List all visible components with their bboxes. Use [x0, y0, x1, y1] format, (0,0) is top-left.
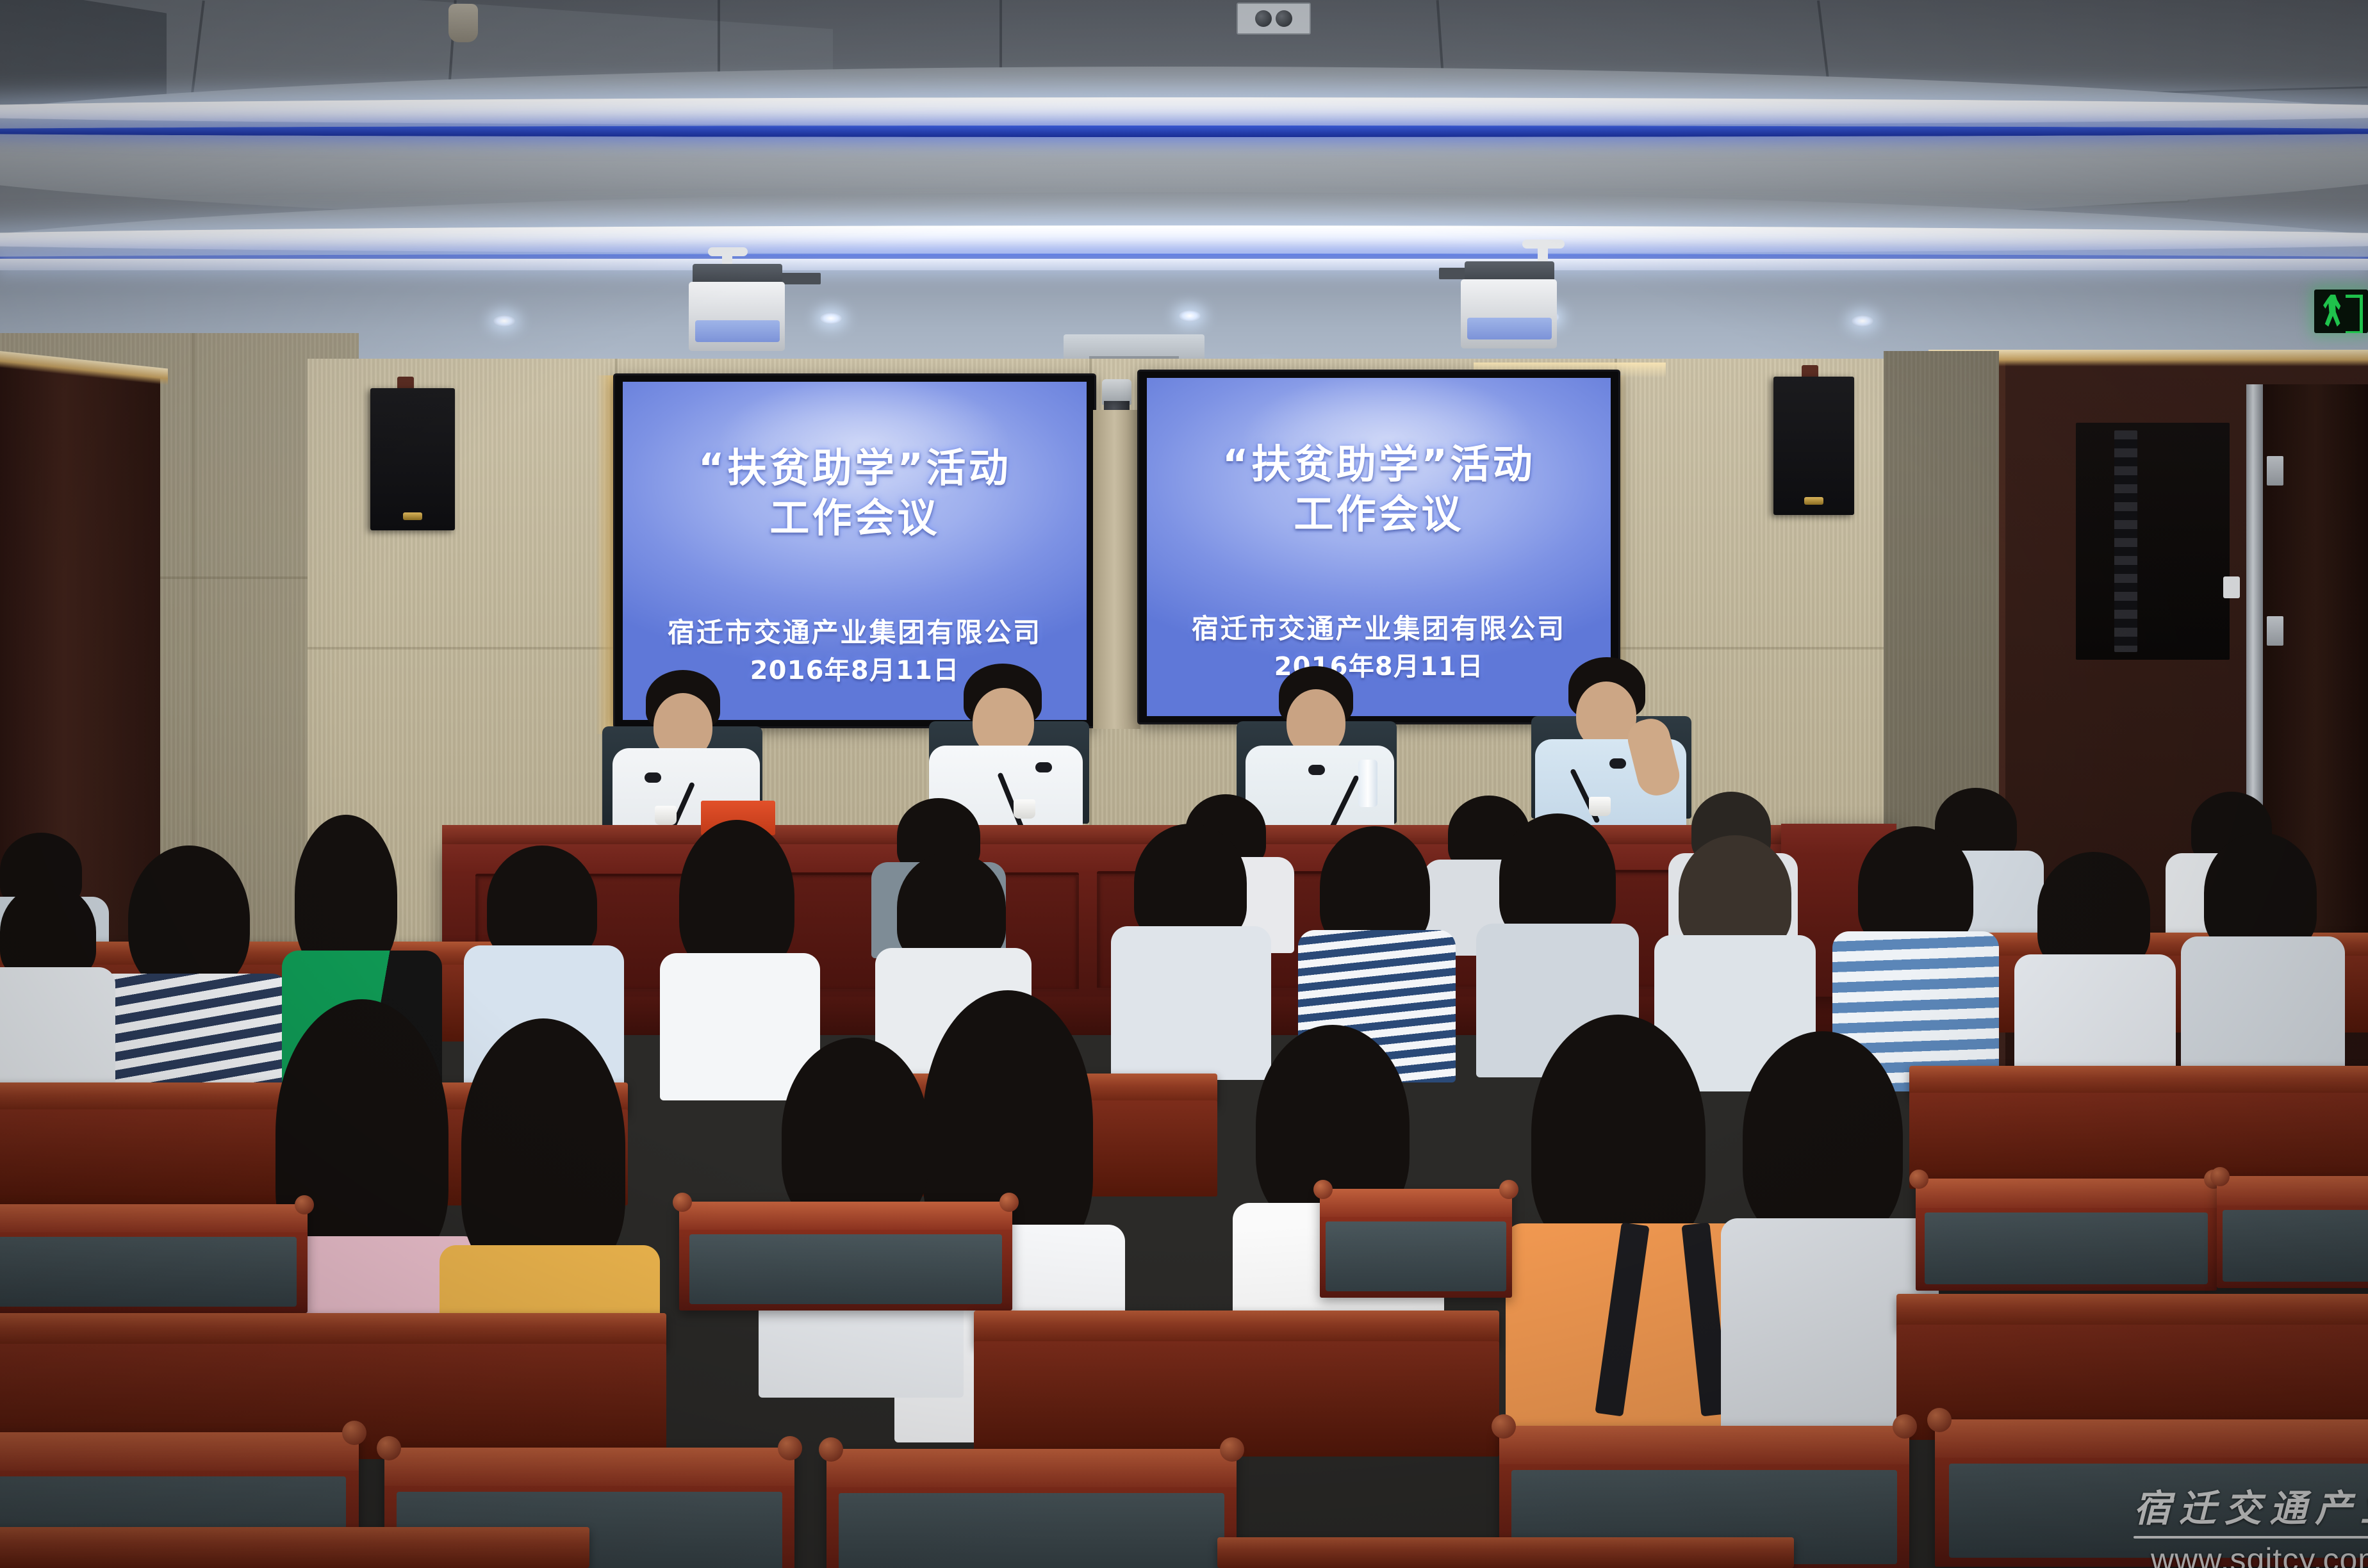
audience-desk	[0, 1527, 589, 1568]
watermark: 宿迁交通产业 www.sqjtcy.com	[2134, 1478, 2368, 1568]
downlight-icon	[820, 313, 842, 324]
ceiling-cove-blue-1	[0, 126, 2368, 137]
exit-door-icon	[2346, 295, 2363, 333]
light-switch-icon[interactable]	[2223, 576, 2240, 598]
slide-title-line2: 工作会议	[623, 486, 1087, 543]
downlight-icon	[493, 315, 515, 327]
tea-cup	[655, 806, 677, 825]
ceiling-light-strip-1	[0, 97, 2368, 126]
screen-backlight-left	[596, 375, 618, 734]
projection-screen-right: “扶贫助学”活动 工作会议 宿迁市交通产业集团有限公司 2016年8月11日	[1147, 378, 1611, 716]
speaker-badge-icon	[1804, 497, 1823, 505]
downlight-icon	[1179, 310, 1201, 322]
wall-speaker-left	[370, 388, 455, 530]
tea-cup	[1589, 797, 1611, 816]
slide-org-line: 宿迁市交通产业集团有限公司	[1147, 607, 1611, 646]
security-camera-icon	[1102, 379, 1131, 405]
watermark-url: www.sqjtcy.com	[2134, 1541, 2368, 1568]
wall-control-panel[interactable]	[2076, 423, 2230, 660]
slide-title-line1: “扶贫助学”活动	[623, 436, 1087, 493]
water-bottle	[1358, 760, 1377, 807]
panel-vent-icon	[2114, 430, 2137, 652]
bench-seat	[2217, 1176, 2368, 1288]
slide-title-line1: “扶贫助学”活动	[1147, 432, 1611, 489]
ceiling-light-strip-2	[0, 225, 2368, 254]
watermark-rule	[2134, 1536, 2368, 1539]
wall-speaker-right	[1773, 377, 1854, 515]
running-person-icon	[2322, 295, 2344, 328]
meeting-room-photo: “扶贫助学”活动 工作会议 宿迁市交通产业集团有限公司 2016年8月11日 “…	[0, 0, 2368, 1568]
bench-seat	[0, 1204, 308, 1313]
audience-desk	[1217, 1537, 1794, 1568]
wall-pillar-between-screens	[1093, 410, 1140, 729]
emergency-exit-sign	[2314, 290, 2368, 333]
door-hinge-icon	[2267, 616, 2283, 646]
downlight-icon	[1852, 315, 1873, 327]
door-hinge-icon	[2267, 456, 2283, 486]
slide-org-line: 宿迁市交通产业集团有限公司	[623, 611, 1087, 650]
tea-cup	[1014, 799, 1035, 819]
ceiling-spotlight	[1237, 3, 1311, 35]
slide-date-line: 2016年8月11日	[1147, 646, 1611, 683]
speaker-badge-icon	[403, 512, 422, 520]
bench-seat	[826, 1449, 1237, 1568]
watermark-chinese: 宿迁交通产业	[2134, 1478, 2368, 1532]
bench-seat	[1320, 1189, 1512, 1298]
smoke-detector-icon	[448, 4, 478, 42]
slide-title-line2: 工作会议	[1147, 482, 1611, 539]
bench-seat	[679, 1202, 1012, 1311]
bench-seat	[1916, 1179, 2217, 1291]
